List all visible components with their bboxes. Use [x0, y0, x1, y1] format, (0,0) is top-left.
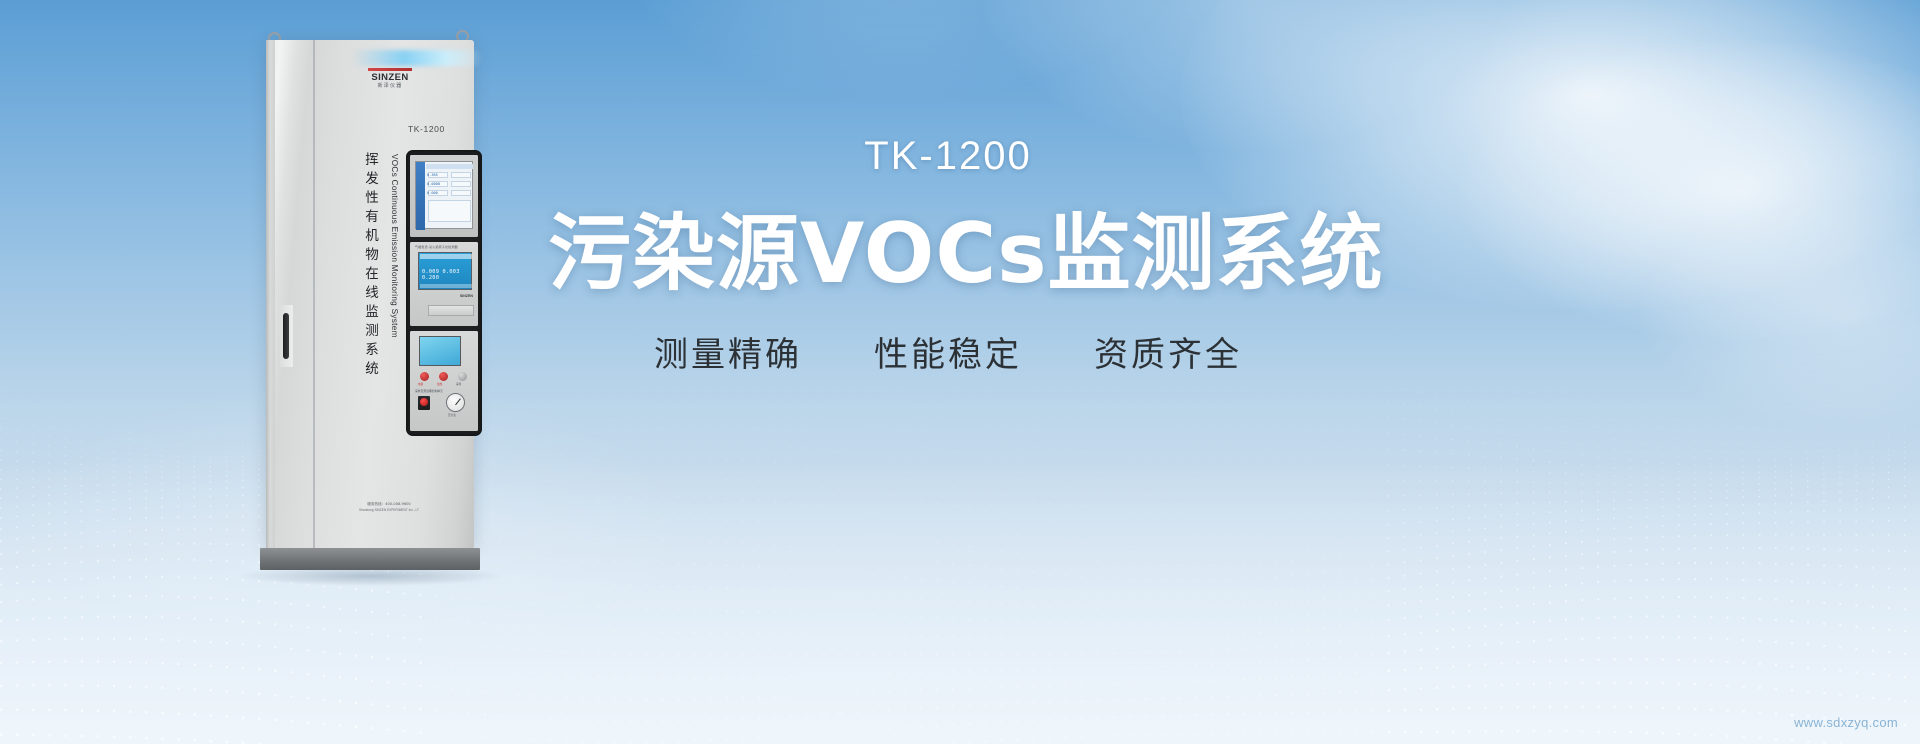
gauge-label: 压力表 — [448, 413, 456, 417]
knob-label: 电源 — [418, 382, 423, 386]
hero-copy: TK-1200 污染源VOCs监测系统 测量精确 性能稳定 资质齐全 — [548, 132, 1348, 376]
cabinet-vertical-title-cn: 挥发性有机物在线监测系统 — [362, 152, 377, 380]
hero-banner: SINZEN 新泽仪器 TK-1200 挥发性有机物在线监测系统 VOCs Co… — [0, 0, 1920, 744]
product-image-tk1200: SINZEN 新泽仪器 TK-1200 挥发性有机物在线监测系统 VOCs Co… — [258, 22, 498, 582]
cabinet-footer: 服务热线：400-008-9600 Shandong SINZEN EXPERI… — [324, 502, 454, 513]
gauge-needle-icon — [455, 398, 461, 405]
control-caption: 采样及预处理控制单元 — [415, 389, 443, 393]
power-knob-icon — [420, 372, 429, 381]
hero-feature-item: 性能稳定 — [874, 334, 1022, 376]
hmi-value: 0.365 — [427, 173, 438, 180]
instrument-bay: 0.365 0.0000 0.000 气相色谱-氢火焰离子化检测器 0.009 … — [406, 150, 482, 436]
hero-feature-list: 测量精确 性能稳定 资质齐全 — [548, 334, 1348, 376]
brand-accent-bar — [368, 68, 412, 71]
cabinet-vertical-title-en: VOCs Continuous Emission Monitoring Syst… — [390, 154, 399, 338]
analyzer-brand: SINZEN — [460, 294, 473, 298]
brand-logo: SINZEN 新泽仪器 — [358, 68, 422, 90]
hero-feature-item: 测量精确 — [654, 334, 802, 376]
site-watermark: www.sdxzyq.com — [1794, 715, 1898, 730]
pressure-gauge-icon — [446, 393, 465, 412]
emergency-stop-button — [418, 396, 430, 410]
lcd-top-bar — [420, 254, 472, 259]
cloud-decoration — [620, 0, 1180, 100]
cabinet-top-highlight — [352, 50, 482, 66]
cabinet-door-handle — [280, 305, 293, 367]
hero-headline: 污染源VOCs监测系统 — [548, 206, 1348, 302]
cabinet-footer-en: Shandong SINZEN EXPERIMENT Inc., LT — [324, 508, 454, 514]
handle-grip-icon — [283, 313, 289, 359]
heater-knob-icon — [439, 372, 448, 381]
cloud-decoration — [1640, 200, 1920, 430]
cabinet-model-label: TK-1200 — [408, 124, 445, 134]
cabinet-body: SINZEN 新泽仪器 TK-1200 挥发性有机物在线监测系统 VOCs Co… — [266, 40, 474, 548]
knob-label: 加热 — [437, 382, 442, 386]
hmi-value: 0.000 — [427, 191, 438, 198]
analyzer-unit: 气相色谱-氢火焰离子化检测器 0.009 0.003 0.200 SINZEN — [410, 242, 478, 326]
hero-model: TK-1200 — [548, 132, 1348, 180]
sample-knob-icon — [458, 372, 467, 381]
brand-name-cn: 新泽仪器 — [358, 83, 422, 90]
cabinet-door-seam — [313, 40, 315, 548]
cabinet-ground-shadow — [240, 566, 502, 586]
cabinet-door-edge — [266, 40, 275, 548]
lcd-bottom-bar — [420, 284, 472, 288]
brand-name: SINZEN — [358, 73, 422, 83]
hmi-screen: 0.365 0.0000 0.000 — [415, 161, 473, 229]
hmi-unit: 0.365 0.0000 0.000 — [410, 155, 478, 237]
hmi-header-bar — [426, 164, 473, 169]
cloud-decoration — [1460, 40, 1920, 340]
estop-icon — [420, 398, 428, 406]
cloud-decoration — [980, 0, 1500, 150]
hmi-value: 0.0000 — [427, 182, 440, 189]
lcd-reading: 0.009 0.003 0.200 — [422, 269, 471, 281]
analyzer-tray — [428, 305, 474, 316]
control-unit: 电源 加热 采样 采样及预处理控制单元 压力表 — [410, 331, 478, 431]
control-touchscreen — [419, 336, 461, 366]
hero-feature-item: 资质齐全 — [1094, 334, 1242, 376]
analyzer-caption: 气相色谱-氢火焰离子化检测器 — [415, 245, 458, 249]
analyzer-lcd-screen: 0.009 0.003 0.200 — [418, 252, 472, 290]
hmi-sidebar — [416, 162, 425, 230]
knob-label: 采样 — [456, 382, 461, 386]
